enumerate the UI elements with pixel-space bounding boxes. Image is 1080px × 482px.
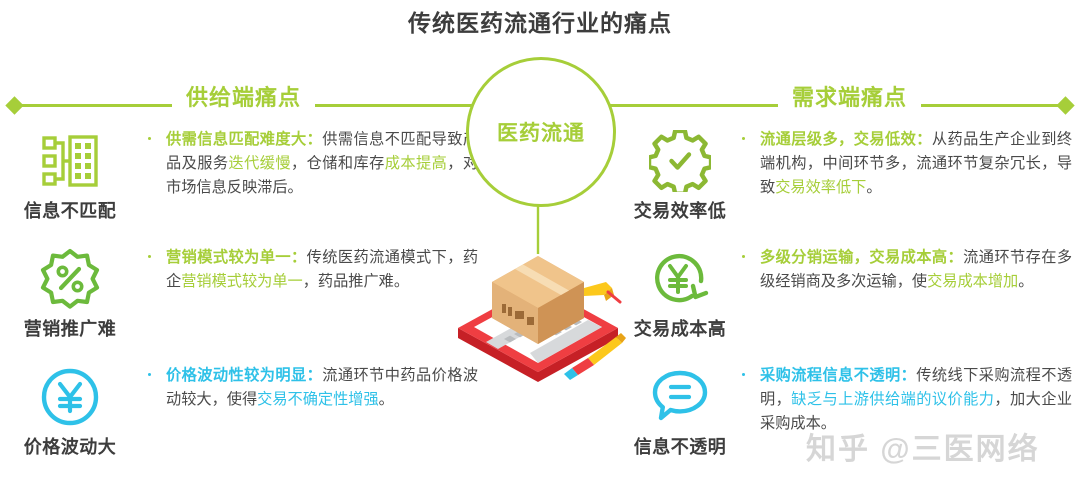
list-item: 交易效率低 流通层级多，交易低效：从药品生产企业到终端机构，中间环节多，流通环节… [600, 126, 1080, 244]
bullet-dot [148, 137, 151, 140]
axis-endpoint-left [5, 96, 23, 114]
supply-side-column: 信息不匹配 供需信息匹配难度大：供需信息不匹配导致产品及服务迭代缓慢，仓储和库存… [0, 126, 480, 480]
text-cell: 流通层级多，交易低效：从药品生产企业到终端机构，中间环节多，流通环节复杂冗长，导… [742, 128, 1072, 200]
bullet-highlight: 交易成本增加 [927, 273, 1018, 290]
bullet-text: 供需信息匹配难度大：供需信息不匹配导致产品及服务迭代缓慢，仓储和库存成本提高，对… [148, 128, 478, 200]
text-cell: 供需信息匹配难度大：供需信息不匹配导致产品及服务迭代缓慢，仓储和库存成本提高，对… [148, 128, 478, 200]
marketing-promotion-icon [39, 244, 101, 314]
text-cell: 营销模式较为单一：传统医药流通模式下，药企营销模式较为单一，药品推广难。 [148, 246, 478, 294]
bullet-text: 流通层级多，交易低效：从药品生产企业到终端机构，中间环节多，流通环节复杂冗长，导… [742, 128, 1072, 200]
bullet-dot [148, 255, 151, 258]
watermark: 知乎 @三医网络 [806, 424, 1040, 468]
icon-label: 交易效率低 [634, 197, 727, 223]
infographic-root: 传统医药流通行业的痛点 供给端痛点 需求端痛点 医药流通 [0, 0, 1080, 482]
page-title: 传统医药流通行业的痛点 [0, 4, 1080, 38]
bullet-highlight: 成本提高 [385, 155, 448, 172]
icon-cell: 营销推广难 [0, 244, 140, 356]
icon-label: 营销推广难 [24, 315, 117, 341]
bullet-dot [742, 373, 745, 376]
bullet-text: 价格波动性较为明显：流通环节中药品价格波动较大，使得交易不确定性增强。 [148, 364, 478, 412]
bullet-lead: 多级分销运输，交易成本高： [760, 249, 963, 266]
transaction-efficiency-icon [649, 126, 711, 196]
icon-label: 交易成本高 [634, 315, 727, 341]
information-mismatch-icon [39, 126, 101, 196]
bullet-part: 。 [379, 391, 394, 408]
bullet-part: 。 [1018, 273, 1033, 290]
information-opacity-icon [649, 362, 711, 432]
icon-label: 信息不透明 [634, 433, 727, 459]
bullet-highlight: 交易不确定性增强 [257, 391, 379, 408]
section-header-supply: 供给端痛点 [172, 80, 315, 112]
bullet-highlight: 营销模式较为单一 [181, 273, 303, 290]
price-fluctuation-icon [39, 362, 101, 432]
bullet-dot [148, 373, 151, 376]
bullet-text: 营销模式较为单一：传统医药流通模式下，药企营销模式较为单一，药品推广难。 [148, 246, 478, 294]
bullet-lead: 供需信息匹配难度大： [166, 131, 322, 148]
bullet-highlight: 迭代缓慢 [229, 155, 292, 172]
bullet-lead: 流通层级多，交易低效： [760, 131, 932, 148]
list-item: 交易成本高 多级分销运输，交易成本高：流通环节存在多级经销商及多次运输，使交易成… [600, 244, 1080, 362]
icon-cell: 信息不匹配 [0, 126, 140, 238]
bullet-lead: 营销模式较为单一： [166, 249, 307, 266]
section-header-demand: 需求端痛点 [778, 80, 921, 112]
list-item: 营销推广难 营销模式较为单一：传统医药流通模式下，药企营销模式较为单一，药品推广… [0, 244, 480, 362]
bullet-lead: 采购流程信息不透明： [760, 367, 916, 384]
icon-label: 价格波动大 [24, 433, 117, 459]
icon-cell: 价格波动大 [0, 362, 140, 474]
list-item: 信息不匹配 供需信息匹配难度大：供需信息不匹配导致产品及服务迭代缓慢，仓储和库存… [0, 126, 480, 244]
bullet-dot [742, 137, 745, 140]
center-circle-label: 医药流通 [497, 117, 585, 147]
bullet-highlight: 交易效率低下 [775, 179, 866, 196]
bullet-part: ，仓储和库存 [291, 155, 385, 172]
bullet-part: 。 [866, 179, 881, 196]
center-circle: 医药流通 [466, 57, 616, 207]
bullet-dot [742, 255, 745, 258]
bullet-part: ，药品推广难。 [303, 273, 409, 290]
bullet-lead: 价格波动性较为明显： [166, 367, 322, 384]
bullet-highlight: 缺乏与上游供给端的议价能力 [791, 391, 994, 408]
icon-label: 信息不匹配 [24, 197, 117, 223]
text-cell: 多级分销运输，交易成本高：流通环节存在多级经销商及多次运输，使交易成本增加。 [742, 246, 1072, 294]
text-cell: 价格波动性较为明显：流通环节中药品价格波动较大，使得交易不确定性增强。 [148, 364, 478, 412]
parcel-on-tablet-illustration [438, 196, 638, 406]
transaction-cost-icon [649, 244, 711, 314]
axis-endpoint-right [1056, 96, 1074, 114]
list-item: 价格波动大 价格波动性较为明显：流通环节中药品价格波动较大，使得交易不确定性增强… [0, 362, 480, 480]
bullet-text: 多级分销运输，交易成本高：流通环节存在多级经销商及多次运输，使交易成本增加。 [742, 246, 1072, 294]
